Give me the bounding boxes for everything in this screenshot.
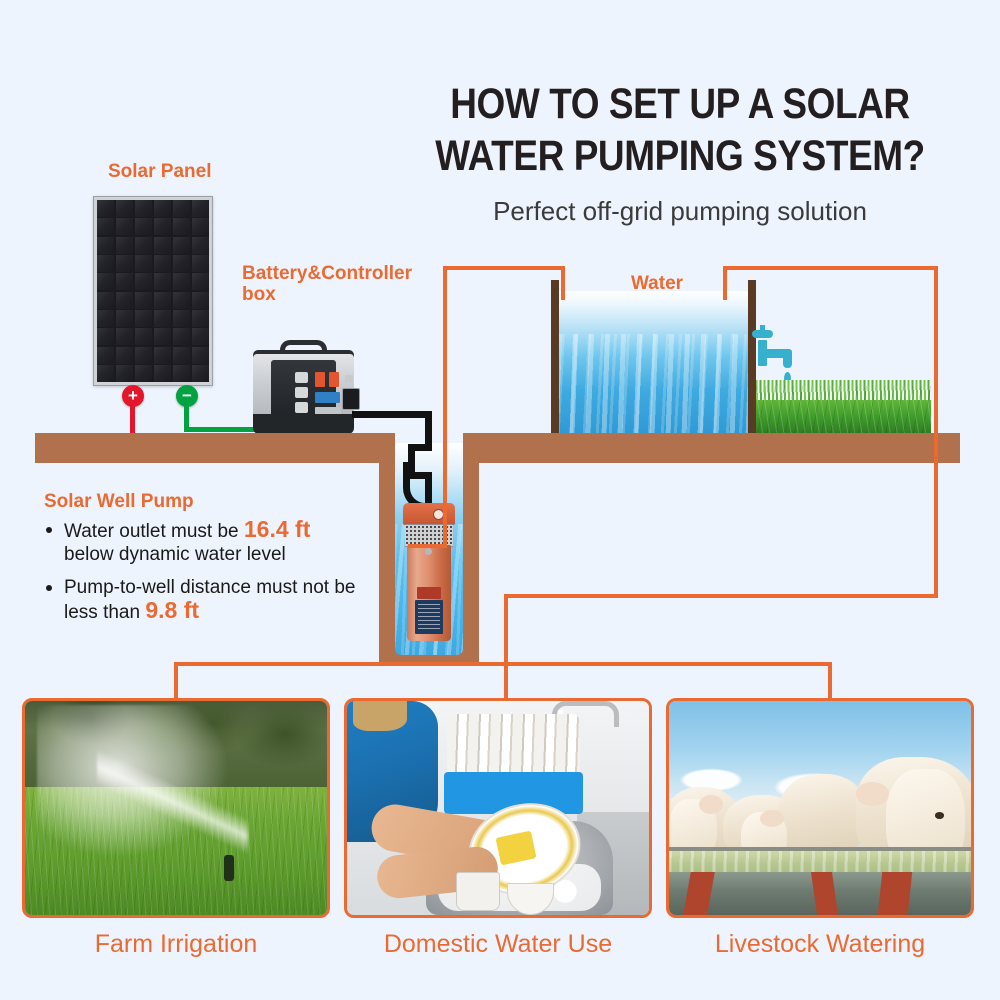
caption-farm-irrigation: Farm Irrigation	[22, 930, 330, 959]
connector-line	[174, 662, 178, 700]
power-station-graphic	[253, 340, 354, 437]
label-solar-well-pump: Solar Well Pump	[44, 491, 194, 513]
pump-requirements-list: Water outlet must be 16.4 ft below dynam…	[44, 518, 364, 634]
application-photo-domestic-water-use[interactable]	[344, 698, 652, 918]
solar-cell	[154, 237, 171, 254]
solar-cell	[154, 347, 171, 364]
caption-domestic-water-use: Domestic Water Use	[344, 930, 652, 959]
ac-outlet-icon	[295, 402, 308, 413]
solar-cell	[154, 218, 171, 235]
solar-cell	[154, 310, 171, 327]
pump-top-cap	[403, 503, 455, 525]
pump-cable-segment	[352, 411, 432, 418]
connector-line	[723, 266, 938, 270]
cow-body	[778, 774, 869, 855]
submersible-pump-graphic	[403, 503, 455, 643]
solar-cell	[154, 255, 171, 272]
solar-panel-cell-grid	[97, 200, 209, 382]
solar-cell	[97, 310, 114, 327]
solar-cell	[116, 273, 133, 290]
solar-cell	[192, 200, 209, 217]
stacked-dishes	[447, 714, 580, 778]
solar-cell	[97, 347, 114, 364]
water-tank-post-left	[551, 280, 559, 433]
connector-line	[828, 662, 832, 700]
solar-cell	[135, 273, 152, 290]
dc-port-icon	[342, 388, 360, 410]
bullet-text-after: below dynamic water level	[64, 544, 286, 565]
grass-strip	[756, 380, 931, 433]
solar-cell	[192, 255, 209, 272]
bullet-value: 16.4 ft	[244, 516, 310, 542]
label-solar-panel: Solar Panel	[108, 161, 212, 183]
solar-cell	[97, 200, 114, 217]
solar-cell	[173, 310, 190, 327]
solar-cell	[116, 347, 133, 364]
solar-cell	[192, 347, 209, 364]
label-battery-controller-box: Battery&Controller box	[242, 263, 442, 305]
solar-cell	[135, 365, 152, 382]
solar-cell	[192, 292, 209, 309]
page-title: HOW TO SET UP A SOLAR WATER PUMPING SYST…	[422, 78, 938, 182]
bullet-value: 9.8 ft	[145, 597, 199, 623]
caption-livestock-watering: Livestock Watering	[666, 930, 974, 959]
connector-line	[561, 266, 565, 300]
solar-cell	[173, 218, 190, 235]
list-item: Water outlet must be 16.4 ft below dynam…	[44, 518, 364, 566]
solar-cell	[154, 273, 171, 290]
cow-eye	[935, 812, 944, 818]
faucet-outlet-icon	[783, 352, 792, 368]
solar-cell	[135, 292, 152, 309]
application-photo-livestock-watering[interactable]	[666, 698, 974, 918]
ac-outlet-icon	[295, 387, 308, 398]
solar-cell	[97, 365, 114, 382]
solar-panel-graphic	[93, 196, 213, 386]
solar-cell	[116, 310, 133, 327]
connector-line	[443, 266, 447, 548]
connector-branch-bar	[174, 662, 832, 666]
solar-cell	[192, 273, 209, 290]
water-tank-contents	[557, 291, 752, 433]
coffee-mug	[456, 872, 500, 910]
page-subtitle: Perfect off-grid pumping solution	[380, 196, 980, 227]
solar-cell	[154, 200, 171, 217]
power-station-base	[253, 414, 354, 434]
faucet-stem-top-icon	[760, 325, 765, 334]
status-indicator-icon	[315, 372, 325, 387]
solar-cell	[154, 328, 171, 345]
cow-ear	[760, 810, 784, 827]
solar-cell	[135, 347, 152, 364]
infographic-canvas: HOW TO SET UP A SOLAR WATER PUMPING SYST…	[0, 0, 1000, 1000]
solar-cell	[173, 237, 190, 254]
solar-cell	[116, 218, 133, 235]
solar-cell	[135, 200, 152, 217]
sprinkler-head	[224, 855, 234, 881]
application-photo-farm-irrigation[interactable]	[22, 698, 330, 918]
solar-cell	[192, 365, 209, 382]
solar-cell	[135, 218, 152, 235]
solar-cell	[116, 200, 133, 217]
solar-cell	[135, 310, 152, 327]
ground-surface-right	[463, 433, 960, 463]
solar-cell	[135, 255, 152, 272]
bullet-text-before: Pump-to-well distance must not be less t…	[64, 577, 355, 623]
well-wall-right	[463, 433, 479, 665]
solar-cell	[154, 292, 171, 309]
connector-line	[408, 544, 447, 548]
connector-line	[443, 266, 565, 270]
solar-cell	[116, 365, 133, 382]
solar-cell	[173, 347, 190, 364]
cow-ear	[856, 782, 889, 806]
page-title-line-1: HOW TO SET UP A SOLAR	[422, 78, 938, 130]
solar-cell	[116, 292, 133, 309]
solar-cell	[135, 237, 152, 254]
solar-cell	[116, 328, 133, 345]
solar-cell	[173, 365, 190, 382]
ground-surface-left	[35, 433, 395, 463]
display-screen	[315, 392, 340, 403]
solar-cell	[173, 328, 190, 345]
bullet-text-before: Water outlet must be	[64, 521, 244, 542]
power-button-icon	[345, 375, 353, 383]
solar-cell	[97, 273, 114, 290]
connector-line	[504, 594, 508, 698]
solar-cell	[192, 218, 209, 235]
solar-cell	[192, 328, 209, 345]
power-station-front-panel	[271, 360, 336, 422]
solar-cell	[97, 218, 114, 235]
pump-brand-label	[417, 587, 441, 599]
solar-cell	[116, 237, 133, 254]
solar-cell	[173, 292, 190, 309]
solar-cell	[154, 365, 171, 382]
status-indicator-icon	[329, 372, 339, 387]
solar-cell	[173, 200, 190, 217]
page-title-line-2: WATER PUMPING SYSTEM?	[422, 130, 938, 182]
pump-spec-label	[415, 600, 443, 634]
solar-cell	[135, 328, 152, 345]
solar-cell	[192, 310, 209, 327]
solar-cell	[116, 255, 133, 272]
trough-rust-mark	[878, 872, 913, 915]
solar-cell	[97, 255, 114, 272]
list-item: Pump-to-well distance must not be less t…	[44, 576, 364, 624]
ac-outlet-icon	[295, 372, 308, 383]
water-tank-post-right	[748, 280, 756, 433]
solar-cell	[97, 328, 114, 345]
person-hair	[353, 701, 407, 731]
connector-line	[934, 266, 938, 596]
connector-line	[504, 594, 938, 598]
solar-cell	[192, 237, 209, 254]
pump-bolt-icon	[425, 548, 432, 555]
solar-cell	[97, 237, 114, 254]
solar-cell	[173, 255, 190, 272]
connector-line	[723, 266, 727, 300]
well-wall-left	[379, 433, 395, 665]
solar-cell	[97, 292, 114, 309]
solar-cell	[173, 273, 190, 290]
